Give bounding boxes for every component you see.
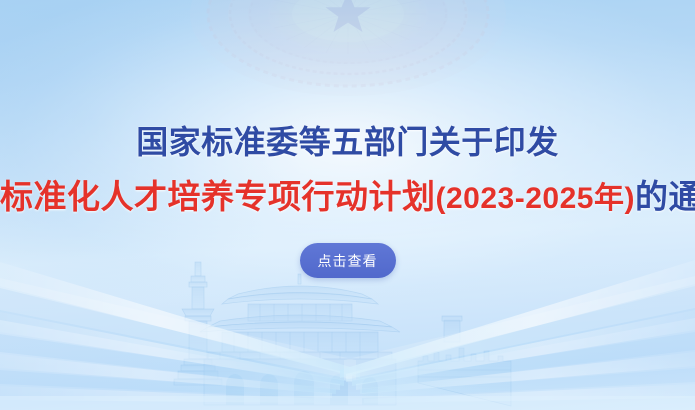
banner-title-plan-name: 标准化人才培养专项行动计划 (0, 178, 436, 215)
banner-title-year-range: (2023-2025年) (436, 182, 635, 215)
notice-banner: 国家标准委等五部门关于印发 标准化人才培养专项行动计划(2023-2025年)的… (0, 0, 695, 410)
banner-content: 国家标准委等五部门关于印发 标准化人才培养专项行动计划(2023-2025年)的… (0, 0, 695, 410)
banner-title-line-1: 国家标准委等五部门关于印发 (0, 126, 695, 158)
banner-title-line-2: 标准化人才培养专项行动计划(2023-2025年)的通知 (0, 180, 695, 214)
cta-container: 点击查看 (0, 243, 695, 278)
view-detail-button[interactable]: 点击查看 (300, 243, 396, 278)
banner-title-suffix: 的通知 (635, 178, 695, 215)
